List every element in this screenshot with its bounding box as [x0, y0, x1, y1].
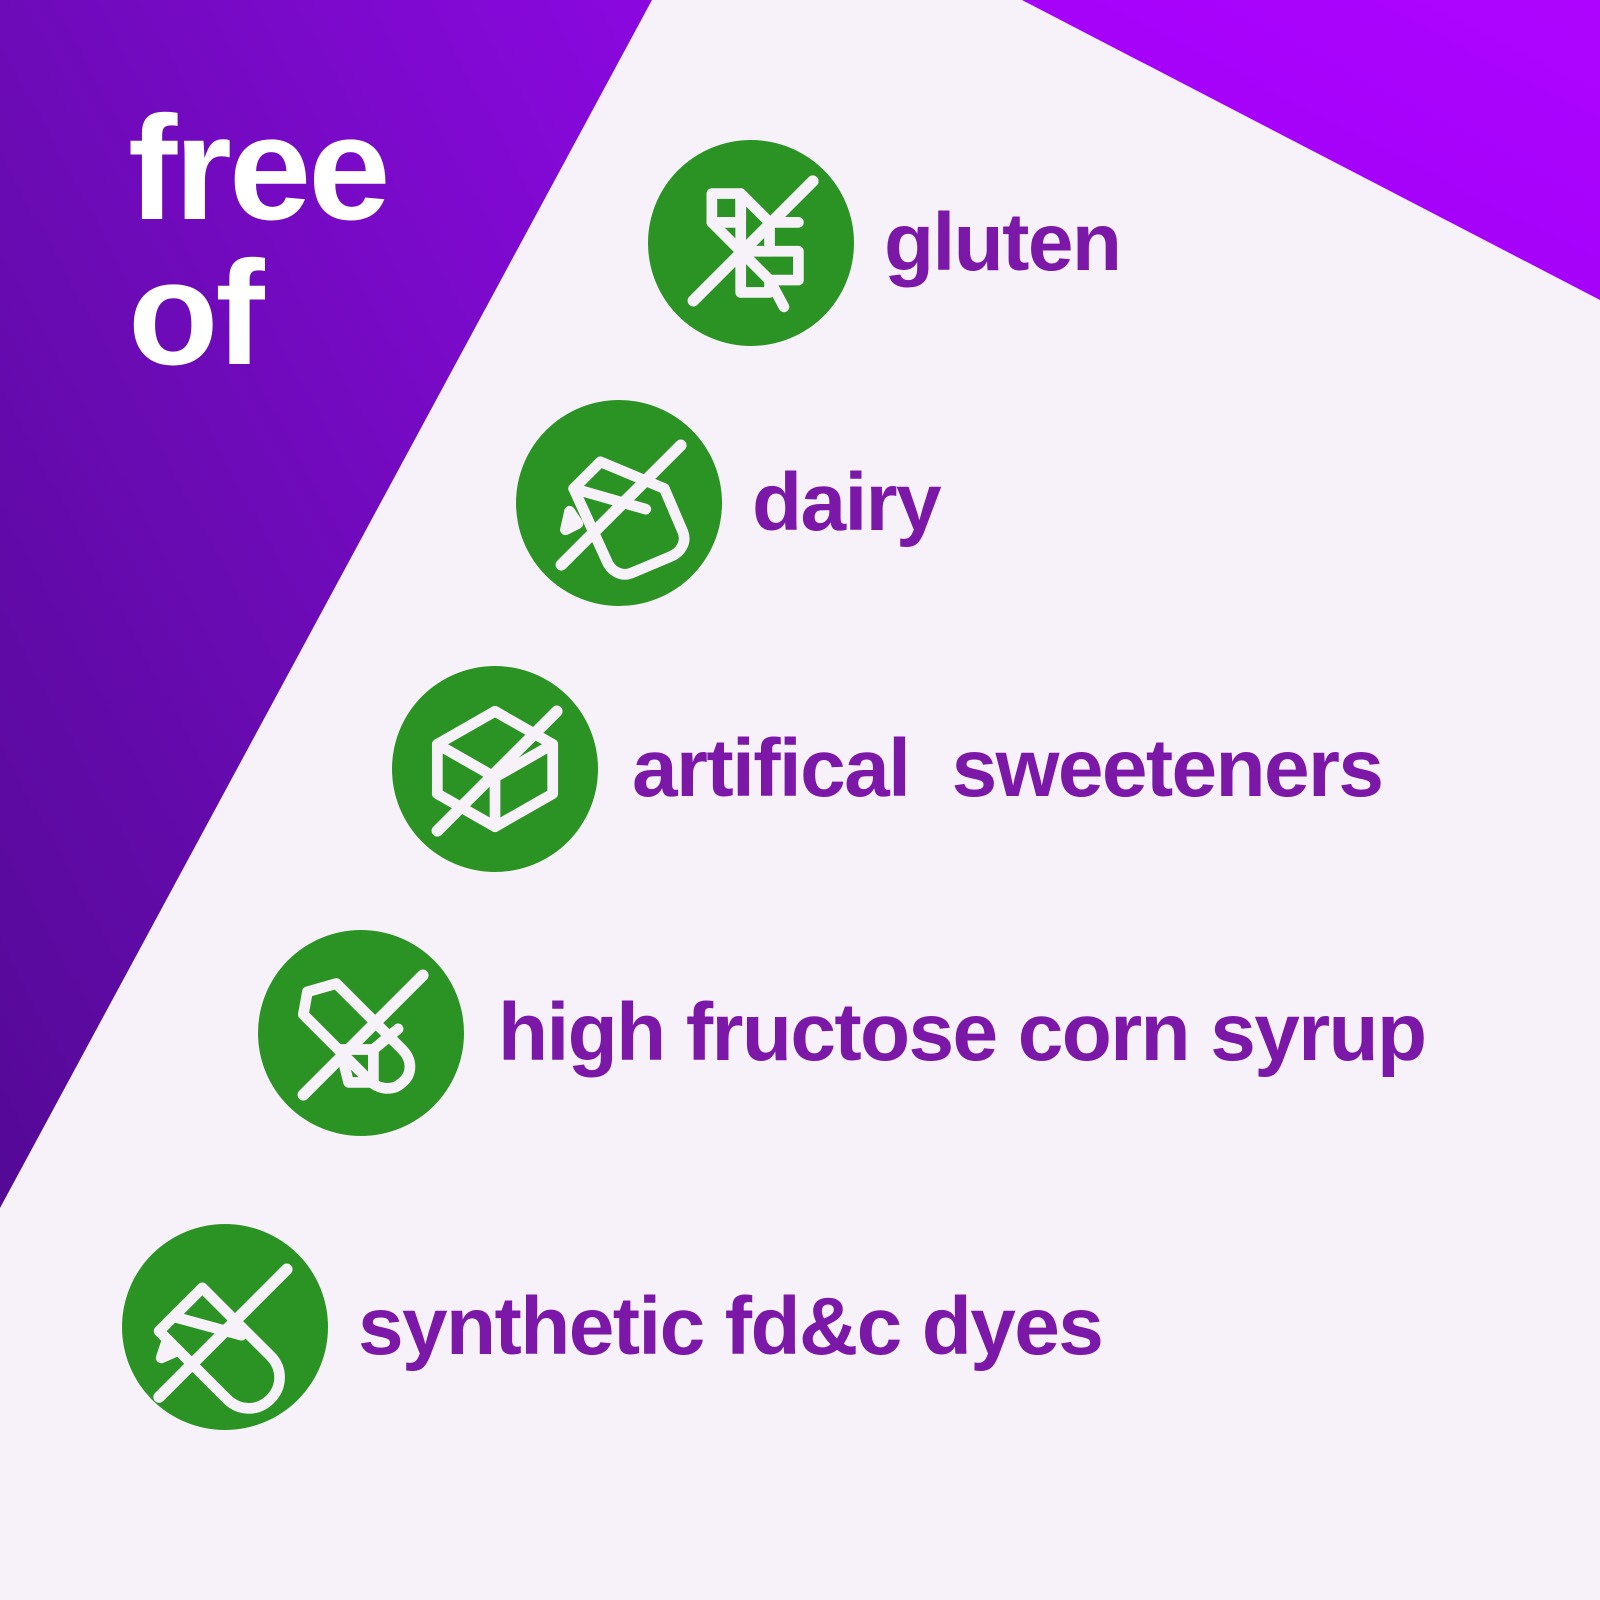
corn-no-icon — [258, 930, 464, 1136]
list-item-label: gluten — [884, 202, 1120, 284]
milk-glass-no-icon — [516, 400, 722, 606]
list-item-label: artifical sweeteners — [632, 728, 1382, 810]
test-tube-no-icon — [122, 1224, 328, 1430]
sugar-cube-no-icon — [392, 666, 598, 872]
list-item-label: synthetic fd&c dyes — [358, 1286, 1102, 1368]
list-item-synthetic-fdc-dyes: synthetic fd&c dyes — [122, 1224, 1102, 1430]
list-item-label: dairy — [752, 462, 940, 544]
wheat-no-icon — [648, 140, 854, 346]
list-item-artifical-sweeteners: artifical sweeteners — [392, 666, 1382, 872]
list-item-dairy: dairy — [516, 400, 940, 606]
infographic-canvas: free of gluten — [0, 0, 1600, 1600]
list-item-high-fructose-corn-syrup: high fructose corn syrup — [258, 930, 1426, 1136]
list-item-label: high fructose corn syrup — [498, 992, 1426, 1074]
list-item-gluten: gluten — [648, 140, 1120, 346]
